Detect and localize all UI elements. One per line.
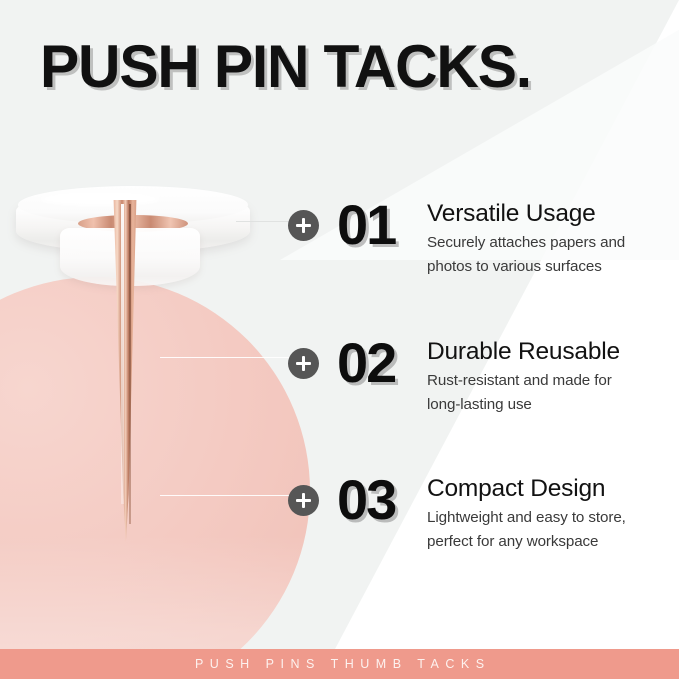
connector-line-02 [160,357,298,358]
feature-heading: Durable Reusable [427,337,679,366]
plus-icon [288,348,319,379]
feature-text-block: Compact Design Lightweight and easy to s… [427,473,679,553]
feature-item-01: 01 Versatile Usage Securely attaches pap… [288,198,679,278]
feature-item-03: 03 Compact Design Lightweight and easy t… [288,473,679,553]
feature-heading: Compact Design [427,474,679,503]
feature-heading: Versatile Usage [427,199,679,228]
feature-description: Rust-resistant and made for long-lasting… [427,369,679,416]
plus-icon [288,210,319,241]
push-pin-illustration [0,180,300,600]
feature-description-line: long-lasting use [427,393,679,417]
feature-text-block: Versatile Usage Securely attaches papers… [427,198,679,278]
feature-description: Lightweight and easy to store, perfect f… [427,506,679,553]
feature-description-line: Rust-resistant and made for [427,369,679,393]
feature-number: 01 [337,198,421,252]
pin-cap-highlight [40,192,160,206]
feature-number: 02 [337,336,421,390]
plus-icon [288,485,319,516]
feature-description-line: photos to various surfaces [427,255,679,279]
feature-description-line: Lightweight and easy to store, [427,506,679,530]
feature-description-line: Securely attaches papers and [427,231,679,255]
feature-description-line: perfect for any workspace [427,530,679,554]
pin-shaft-shadow [129,204,131,524]
feature-item-02: 02 Durable Reusable Rust-resistant and m… [288,336,679,416]
feature-number: 03 [337,473,421,527]
infographic-canvas: PUSH PIN TACKS. 01 Versatile Usage Secur… [0,0,679,679]
footer-bar: PUSH PINS THUMB TACKS [0,649,679,679]
feature-description: Securely attaches papers and photos to v… [427,231,679,278]
connector-line-03 [160,495,298,496]
feature-text-block: Durable Reusable Rust-resistant and made… [427,336,679,416]
page-title: PUSH PIN TACKS. [40,36,531,98]
pin-shaft-highlight [121,204,124,504]
footer-text: PUSH PINS THUMB TACKS [188,657,490,671]
